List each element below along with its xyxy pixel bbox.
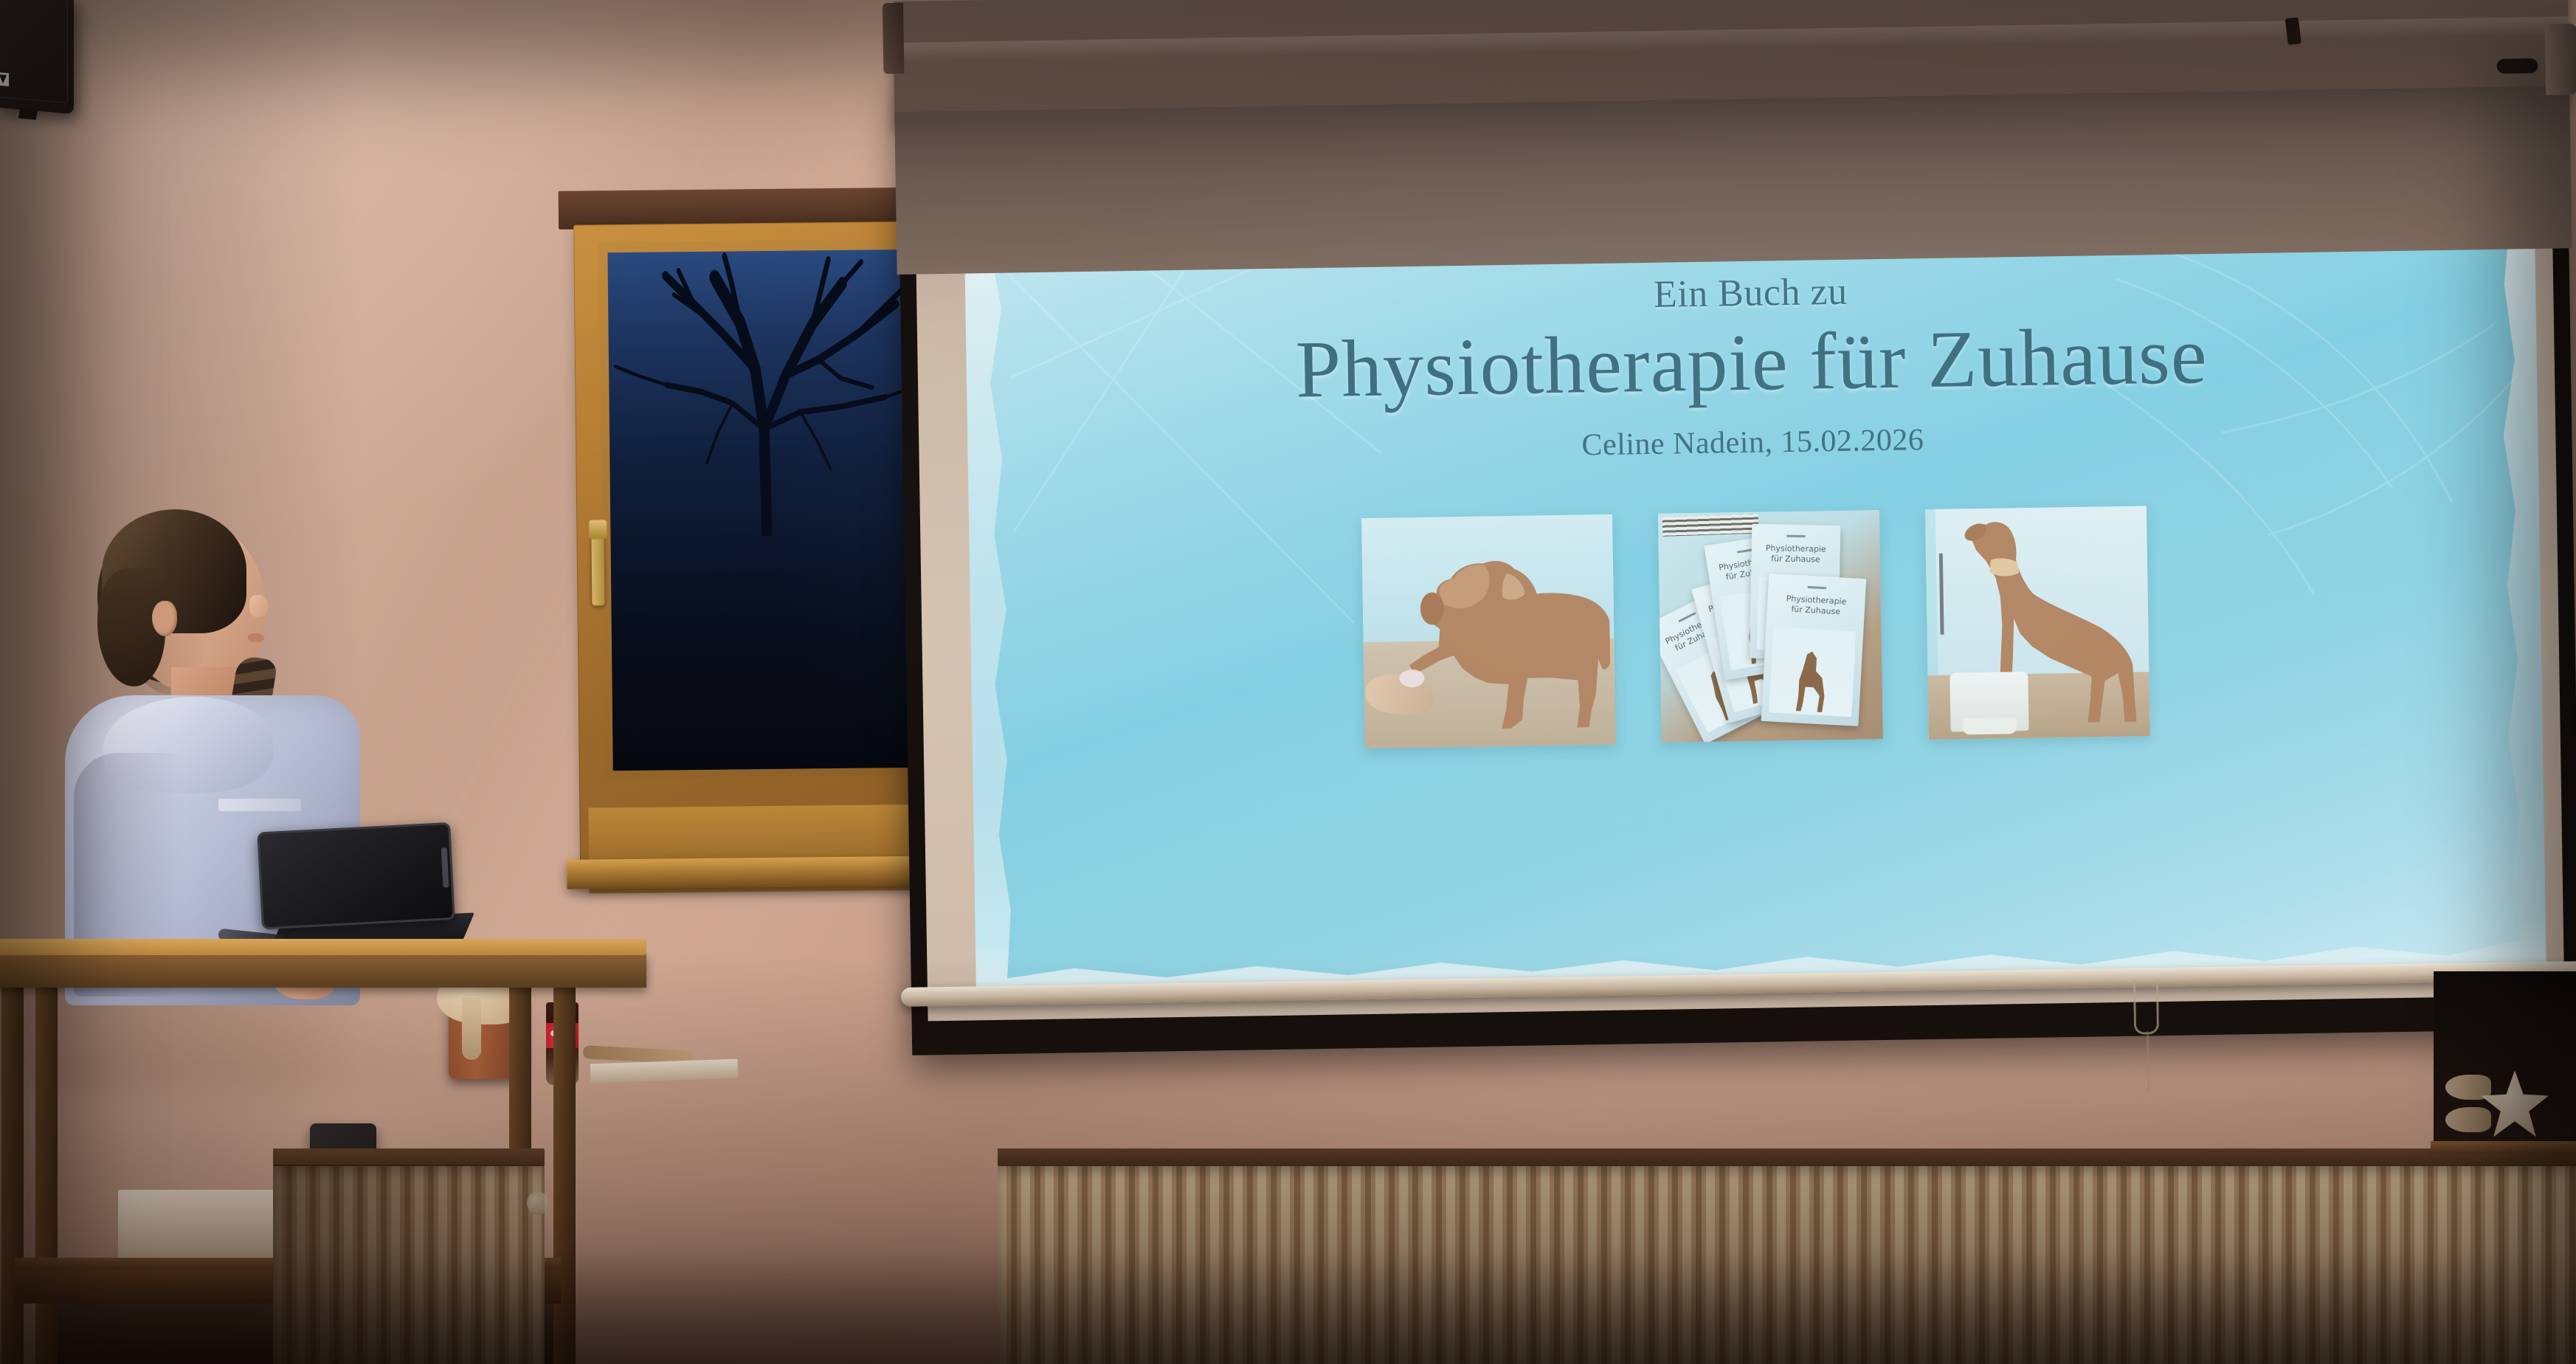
striped-object [1662, 514, 1759, 537]
booklet-dash [1678, 612, 1696, 622]
floor-shading [0, 955, 2576, 1364]
slide-byline: Celine Nadein, 15.02.2026 [967, 413, 2538, 472]
booklet-title: Physiotherapie für Zuhause [1772, 593, 1859, 618]
photo-dog-on-step [1925, 506, 2150, 740]
roller-end-cap-left [883, 3, 905, 74]
slide: Ein Buch zu Physiotherapie für Zuhause C… [964, 191, 2546, 1005]
wall-speaker [0, 0, 74, 114]
slide-content: Ein Buch zu Physiotherapie für Zuhause C… [964, 191, 2546, 1005]
booklet-title-line2: für Zuhause [1791, 604, 1840, 617]
window-sash [598, 238, 950, 778]
booklet-dash [1786, 535, 1806, 537]
window-handle[interactable] [591, 534, 604, 605]
nose [249, 595, 269, 617]
tablet-screen[interactable] [257, 822, 455, 930]
ear [152, 601, 177, 636]
tree-branches-icon [607, 249, 939, 538]
roller-end-cap-right [2545, 24, 2576, 95]
speaker-logo-badge [0, 72, 9, 86]
roller-highlight [894, 16, 2569, 62]
booklet-cover-image [1769, 627, 1856, 717]
roller-slot [2496, 58, 2538, 74]
presentation-room-photo: Ein Buch zu Physiotherapie für Zuhause C… [0, 0, 2576, 1364]
lips [248, 633, 264, 642]
booklet-title-line2: für Zuhause [1771, 554, 1820, 564]
slide-photo-row: Physiotherapie für Zuhause [969, 500, 2543, 768]
booklet-title-line1: Physiotherapie [1766, 543, 1826, 554]
hoodie-logo [218, 799, 301, 811]
window-glass [607, 249, 942, 771]
screen-surface: Ein Buch zu Physiotherapie für Zuhause C… [915, 147, 2565, 1022]
lectern-top [0, 939, 646, 955]
photo-booklet-stack: Physiotherapie für Zuhause [1658, 510, 1883, 743]
speaker-bracket [18, 108, 38, 120]
photo-dog-giving-paw [1361, 514, 1616, 748]
screen-fold-shadow [894, 86, 2572, 275]
tablet-device[interactable] [257, 821, 476, 943]
dog-silhouette-icon [1781, 648, 1843, 716]
speaker-grille [0, 0, 68, 103]
booklet-title: Physiotherapie für Zuhause [1757, 543, 1834, 565]
booklet: Physiotherapie für Zuhause [1761, 573, 1867, 726]
booklet-dash [1807, 586, 1826, 589]
white-step-stool [1950, 672, 2028, 732]
